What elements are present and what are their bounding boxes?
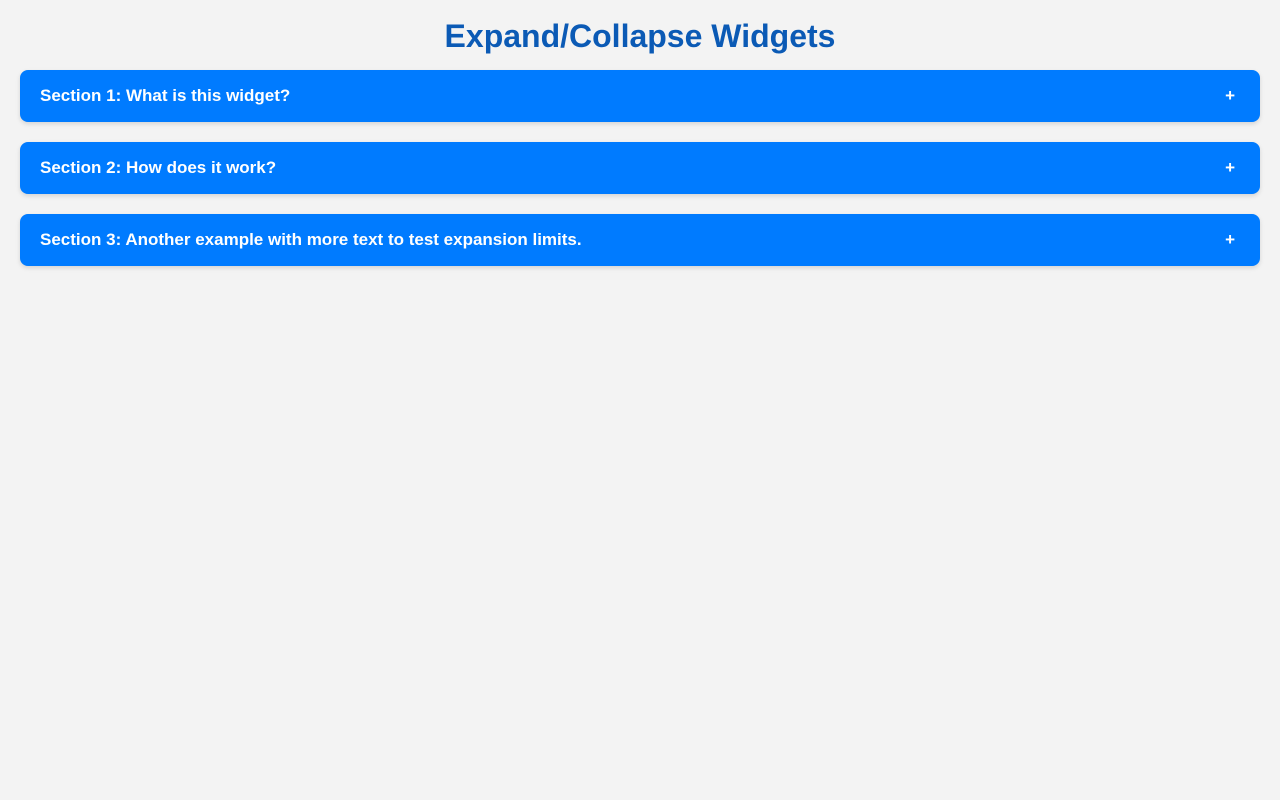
accordion-item: Section 2: How does it work? + <box>20 142 1260 194</box>
accordion-header-section-2[interactable]: Section 2: How does it work? + <box>20 142 1260 194</box>
accordion-title-section-3: Section 3: Another example with more tex… <box>40 230 582 250</box>
accordion-title-section-1: Section 1: What is this widget? <box>40 86 290 106</box>
accordion-item: Section 3: Another example with more tex… <box>20 214 1260 266</box>
accordion-header-section-1[interactable]: Section 1: What is this widget? + <box>20 70 1260 122</box>
accordion-title-section-2: Section 2: How does it work? <box>40 158 276 178</box>
app-root: Expand/Collapse Widgets Section 1: What … <box>0 0 1280 800</box>
accordion-widget-list: Section 1: What is this widget? + Sectio… <box>0 70 1280 266</box>
plus-icon[interactable]: + <box>1225 86 1235 106</box>
plus-icon[interactable]: + <box>1225 230 1235 250</box>
page-title: Expand/Collapse Widgets <box>0 0 1280 70</box>
plus-icon[interactable]: + <box>1225 158 1235 178</box>
accordion-header-section-3[interactable]: Section 3: Another example with more tex… <box>20 214 1260 266</box>
accordion-item: Section 1: What is this widget? + <box>20 70 1260 122</box>
